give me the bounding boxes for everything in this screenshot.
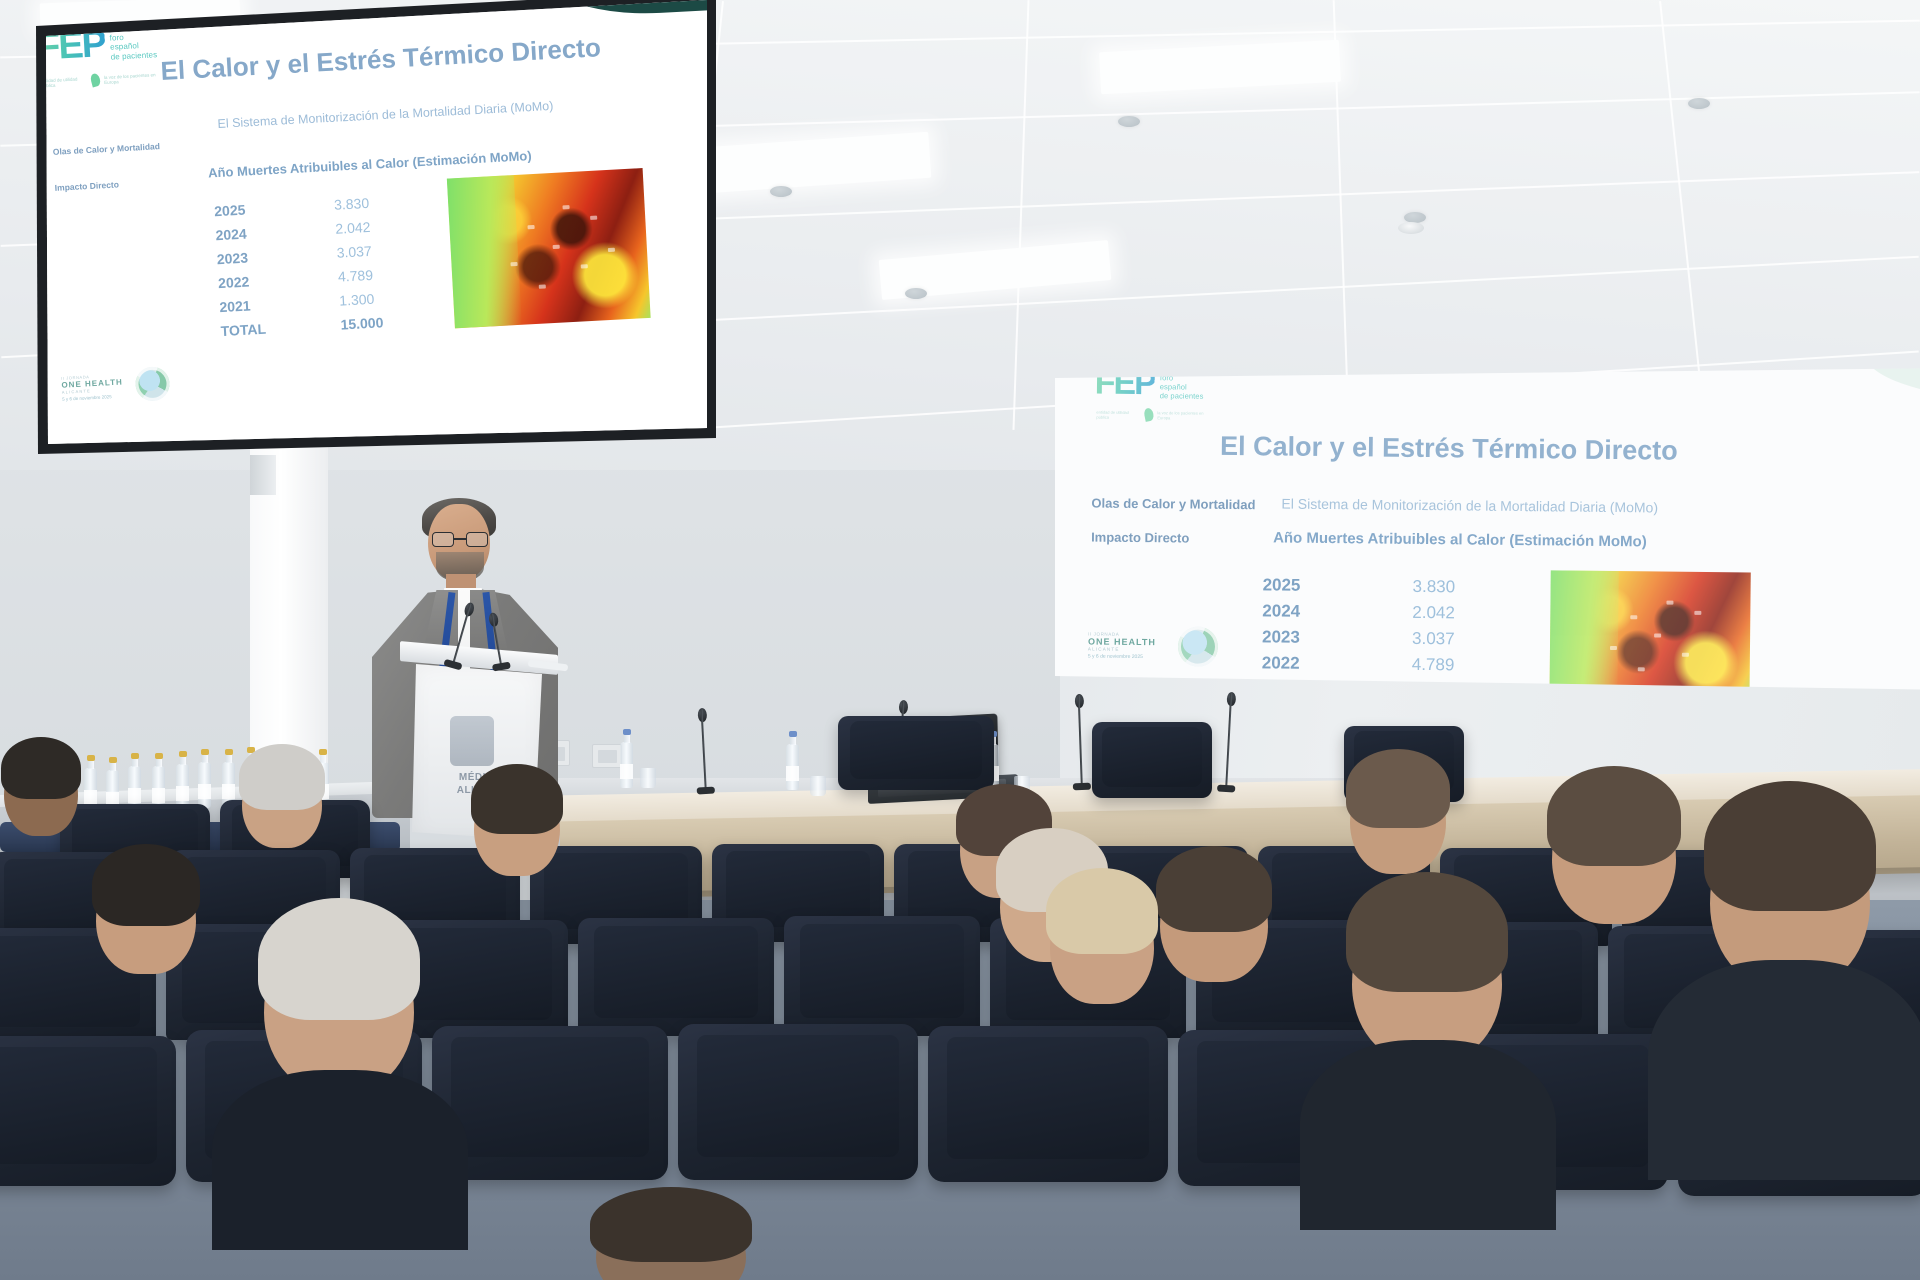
panel-chair[interactable]: [1092, 722, 1212, 798]
glasses-icon: [432, 532, 488, 547]
attendee-shoulders: [212, 1070, 468, 1250]
attendee-shoulders: [1300, 1040, 1556, 1230]
table-cell-deaths: 3.830: [334, 195, 370, 221]
slide-corner-decoration: [1865, 368, 1920, 402]
audience-seating: [0, 800, 1920, 1280]
attendee-head: [96, 854, 196, 974]
attendee-shoulders: [1648, 960, 1920, 1180]
leaf-icon: [89, 73, 101, 88]
table-cell-deaths: 1.300: [339, 291, 375, 317]
table-cell-deaths: 3.830: [1412, 577, 1455, 603]
mortality-table: 2025 3.830 2024 2.042 2023 3.037 2022 4.…: [1261, 575, 1465, 698]
attendee-head: [242, 752, 322, 848]
slide-side-label-2: Impacto Directo: [54, 179, 119, 192]
projection-surface: FEP foro español de pacientes entidad de…: [1055, 368, 1920, 698]
footer-city: ALICANTE: [1088, 647, 1156, 653]
audience-chair[interactable]: [678, 1024, 918, 1180]
medical-college-crest: [450, 716, 494, 766]
iberia-temperature-map: [447, 168, 651, 328]
table-row: 2024 2.042: [1262, 601, 1464, 629]
slide-side-label-2: Impacto Directo: [1091, 530, 1189, 546]
slide-side-label-1: Olas de Calor y Mortalidad: [1091, 496, 1255, 513]
audience-chair[interactable]: [928, 1026, 1168, 1182]
table-row: 2025 3.830: [1262, 575, 1464, 603]
smoke-detector-icon: [1398, 222, 1424, 234]
one-health-globe-icon: [135, 366, 171, 402]
attendee-head: [1350, 758, 1446, 874]
slide-side-label-1: Olas de Calor y Mortalidad: [53, 141, 161, 157]
drinking-glass: [640, 768, 656, 788]
audience-chair[interactable]: [578, 918, 774, 1036]
table-cell-deaths: 15.000: [340, 314, 384, 340]
attendee-head: [596, 1196, 746, 1280]
fep-sublogo: entidad de utilidad pública la voz de lo…: [41, 70, 159, 89]
table-cell-year: 2023: [1262, 627, 1412, 655]
table-row: 2022 4.789: [1262, 653, 1464, 681]
audience-chair[interactable]: [784, 916, 980, 1036]
table-row: 2023 3.037: [1262, 627, 1464, 655]
fep-mark: FEP: [1095, 370, 1155, 399]
wall-mounted-tv: ILUSTRE COLEGIO OFICIAL MÉDICOS ALICANTE…: [10, 0, 722, 470]
attendee-head: [264, 912, 414, 1092]
leaf-icon: [1143, 407, 1154, 422]
slide-footer: II JORNADA ONE HEALTH ALICANTE 5 y 6 de …: [1088, 632, 1156, 661]
audience-chair[interactable]: [0, 1036, 176, 1186]
footer-date: 5 y 6 de noviembre 2025: [62, 393, 124, 401]
table-cell-deaths: 4.789: [1412, 655, 1455, 681]
table-row: 2021 1.300: [1261, 679, 1463, 698]
slide-title: El Calor y el Estrés Térmico Directo: [1220, 431, 1678, 467]
slide-on-projector: FEP foro español de pacientes entidad de…: [1055, 368, 1920, 698]
slide-section-heading: El Sistema de Monitorización de la Morta…: [1281, 496, 1658, 516]
attendee-head: [474, 772, 560, 876]
slide-table-heading: Año Muertes Atribuibles al Calor (Estima…: [1273, 529, 1647, 550]
footer-date: 5 y 6 de noviembre 2025: [1088, 654, 1156, 661]
slide-footer: II JORNADA ONE HEALTH ALICANTE 5 y 6 de …: [61, 372, 124, 401]
fep-logo: FEP foro español de pacientes: [1095, 370, 1204, 402]
attendee-head: [1552, 778, 1676, 924]
panel-chair[interactable]: [838, 716, 994, 790]
fep-words: foro español de pacientes: [1160, 370, 1204, 401]
footer-title: ONE HEALTH: [1088, 637, 1156, 648]
slide-section-heading: El Sistema de Monitorización de la Morta…: [217, 99, 554, 131]
attendee-head: [1160, 856, 1268, 982]
slide-title: El Calor y el Estrés Térmico Directo: [160, 32, 602, 87]
iberia-temperature-map: [1549, 570, 1750, 698]
slide-on-tv: ILUSTRE COLEGIO OFICIAL MÉDICOS ALICANTE…: [10, 0, 722, 466]
attendee-head: [4, 744, 78, 836]
tv-screen: ILUSTRE COLEGIO OFICIAL MÉDICOS ALICANTE…: [10, 0, 722, 470]
drinking-glass: [810, 776, 826, 796]
table-cell-deaths: 3.037: [1412, 629, 1455, 655]
wall-socket-panel[interactable]: [592, 744, 622, 768]
table-cell-deaths: 4.789: [338, 267, 374, 293]
table-cell-year: 2025: [1262, 575, 1412, 603]
table-cell-year: 2024: [1262, 601, 1412, 629]
table-cell-year: 2021: [1261, 679, 1411, 698]
table-cell-deaths: 3.037: [336, 243, 372, 269]
water-bottle: [620, 742, 633, 788]
table-cell-deaths: 2.042: [1412, 603, 1455, 629]
attendee-head: [1352, 886, 1502, 1062]
table-cell-year: 2022: [1262, 653, 1412, 681]
tv-wall-mount: [250, 455, 276, 495]
table-cell-deaths: 2.042: [335, 219, 371, 245]
attendee-head: [1050, 878, 1154, 1004]
one-health-globe-icon: [1178, 626, 1218, 666]
mortality-table: 2025 3.830 2024 2.042 2023 3.037 2022 4.…: [214, 194, 384, 347]
conference-photo-scene: ILUSTRE COLEGIO OFICIAL MÉDICOS ALICANTE…: [0, 0, 1920, 1280]
water-bottle: [786, 744, 799, 790]
table-cell-deaths: 1.300: [1411, 681, 1454, 698]
fep-sublogo: entidad de utilidad pública la voz de lo…: [1096, 408, 1209, 422]
projection-screen: FEP foro español de pacientes entidad de…: [1055, 368, 1920, 698]
table-cell-year: TOTAL: [220, 317, 341, 347]
